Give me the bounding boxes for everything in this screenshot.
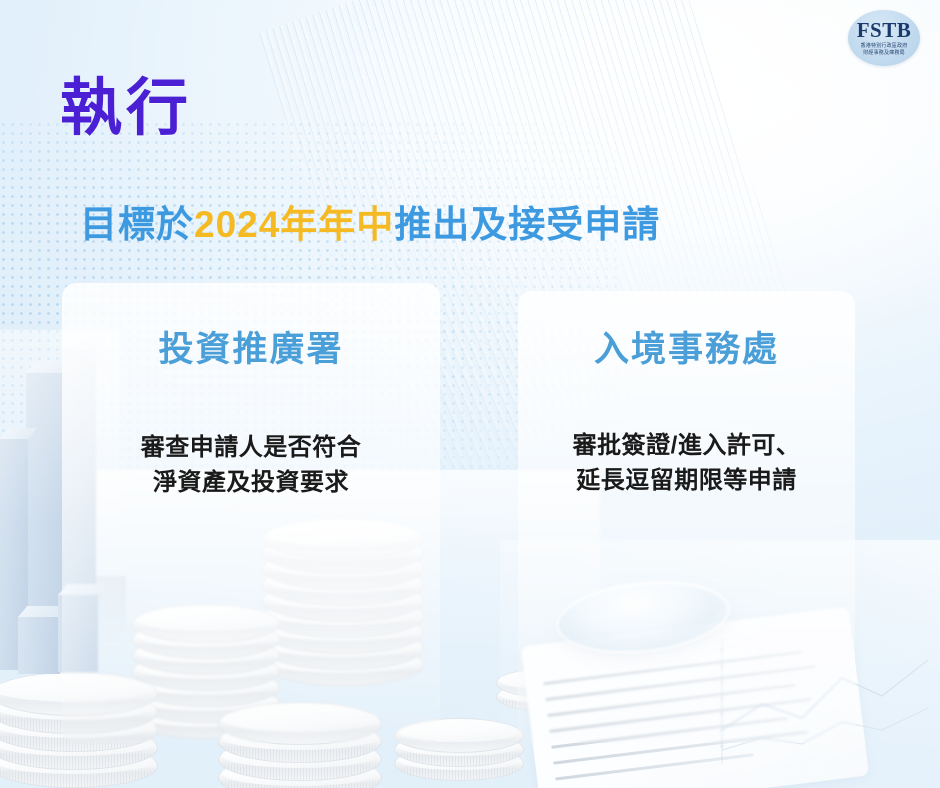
card-immigration-department: 入境事務處 審批簽證/進入許可、 延長逗留期限等申請 (518, 291, 855, 743)
card-invest-hk: 投資推廣署 審查申請人是否符合 淨資產及投資要求 (62, 283, 440, 743)
fstb-logo-subtitle-line2: 財經事務及庫務局 (861, 50, 908, 56)
page-title: 執行 (60, 78, 192, 140)
fstb-logo: FSTB 香港特別行政區政府 財經事務及庫務局 (848, 10, 920, 66)
fstb-logo-subtitle-line1: 香港特別行政區政府 (861, 43, 908, 49)
card-invest-hk-body: 審查申請人是否符合 淨資產及投資要求 (62, 431, 440, 501)
card-immigration-department-body-line1: 審批簽證/進入許可、 (518, 429, 855, 464)
card-invest-hk-body-line1: 審查申請人是否符合 (62, 431, 440, 466)
subtitle-tail: 推出及接受申請 (394, 204, 660, 245)
card-invest-hk-body-line2: 淨資產及投資要求 (62, 466, 440, 501)
slide-canvas: FSTB 香港特別行政區政府 財經事務及庫務局 執行 目標於2024年年中推出及… (0, 0, 940, 788)
card-immigration-department-body-line2: 延長逗留期限等申請 (518, 464, 855, 499)
card-immigration-department-title: 入境事務處 (518, 331, 855, 370)
fstb-logo-mark: FSTB (857, 20, 912, 41)
subtitle-highlight: 2024年年中 (194, 204, 394, 245)
fstb-logo-subtitle: 香港特別行政區政府 財經事務及庫務局 (861, 43, 908, 56)
subtitle-lead: 目標於 (80, 204, 194, 245)
subtitle: 目標於2024年年中推出及接受申請 (80, 204, 660, 247)
slide-content: FSTB 香港特別行政區政府 財經事務及庫務局 執行 目標於2024年年中推出及… (0, 0, 940, 788)
card-invest-hk-title: 投資推廣署 (62, 331, 440, 370)
card-immigration-department-body: 審批簽證/進入許可、 延長逗留期限等申請 (518, 429, 855, 499)
